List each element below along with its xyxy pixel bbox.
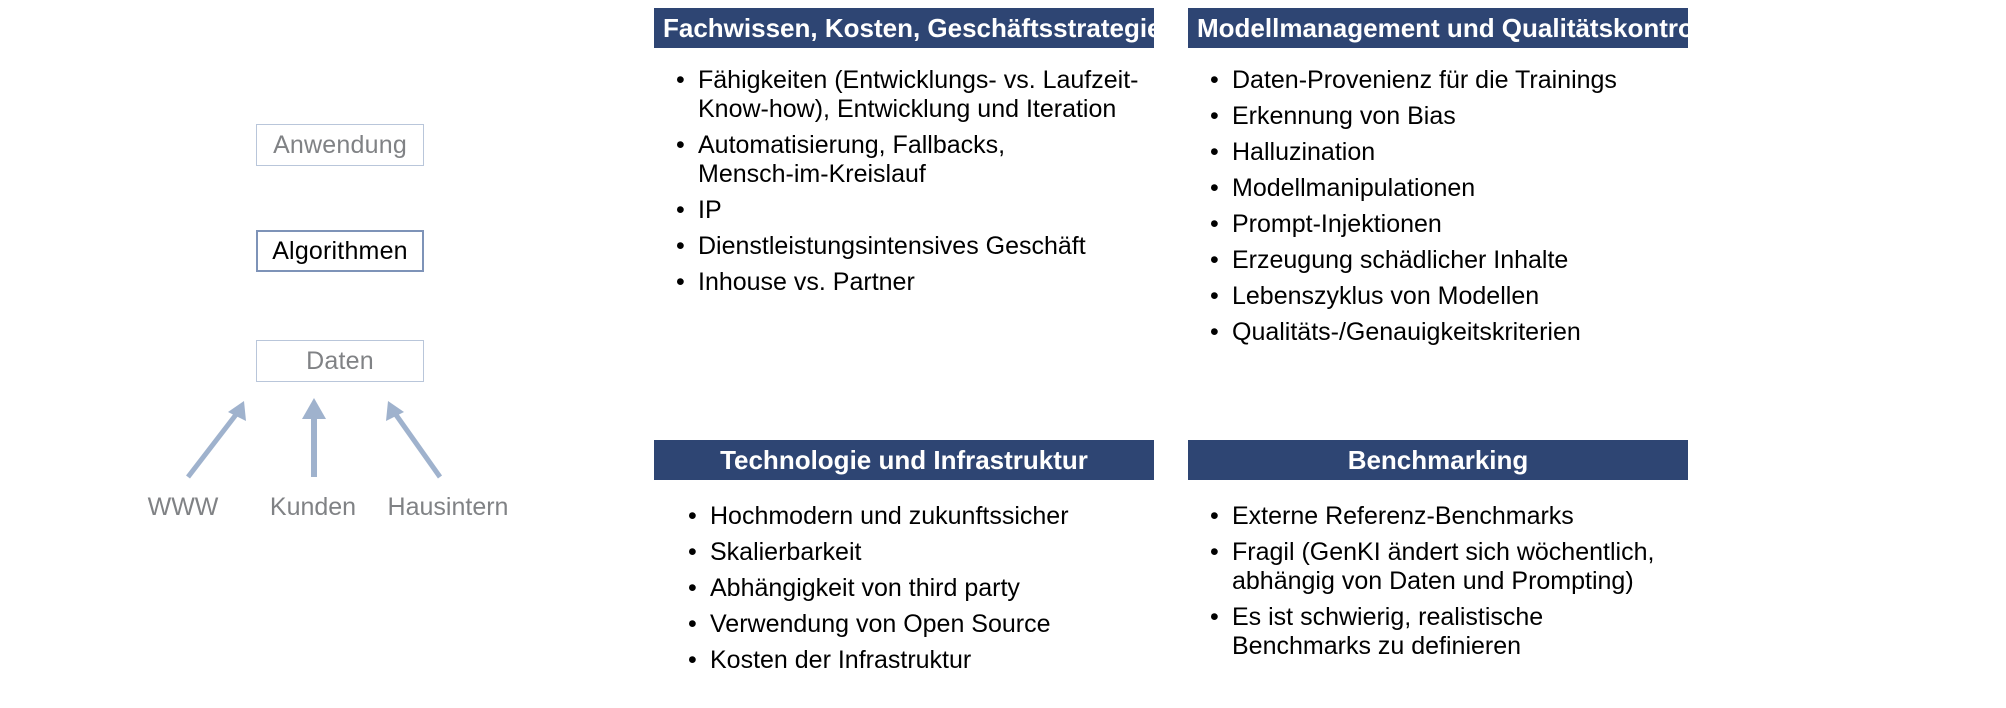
bullet-dot-icon: • [1210, 210, 1219, 239]
list-item-text: Erkennung von Bias [1232, 102, 1688, 131]
list-item: • Verwendung von Open Source [684, 610, 1154, 639]
bullet-dot-icon: • [1210, 603, 1219, 632]
list-item: • Qualitäts-/Genauigkeitskriterien [1206, 318, 1688, 347]
bullet-dot-icon: • [1210, 538, 1219, 567]
panel-grid: Fachwissen, Kosten, Geschäftsstrategie •… [650, 0, 2006, 708]
bullet-dot-icon: • [1210, 174, 1219, 203]
bullet-list-benchmarking: • Externe Referenz-Benchmarks • Fragil (… [1206, 502, 1688, 661]
stack-layer-anwendung[interactable]: Anwendung [256, 124, 424, 166]
bullet-list-technology: • Hochmodern und zukunftssicher • Skalie… [684, 502, 1154, 675]
panel-benchmarking: Benchmarking • Externe Referenz-Benchmar… [1188, 440, 1688, 668]
bullet-dot-icon: • [688, 538, 697, 567]
list-item-text: Halluzination [1232, 138, 1688, 167]
list-item: • Prompt-Injektionen [1206, 210, 1688, 239]
panel-header-expertise: Fachwissen, Kosten, Geschäftsstrategie [654, 8, 1154, 48]
list-item-text: Inhouse vs. Partner [698, 268, 1154, 297]
arrow-www-icon [188, 401, 246, 477]
list-item: • Inhouse vs. Partner [672, 268, 1154, 297]
stack-layer-daten[interactable]: Daten [256, 340, 424, 382]
list-item-text: Daten-Provenienz für die Trainings [1232, 66, 1688, 95]
panel-expertise: Fachwissen, Kosten, Geschäftsstrategie •… [654, 8, 1154, 304]
list-item-text: Modellmanipulationen [1232, 174, 1688, 203]
bullet-dot-icon: • [1210, 138, 1219, 167]
bullet-dot-icon: • [676, 131, 685, 160]
panel-body-benchmarking: • Externe Referenz-Benchmarks • Fragil (… [1188, 502, 1688, 661]
bullet-dot-icon: • [1210, 66, 1219, 95]
list-item: • Externe Referenz-Benchmarks [1206, 502, 1688, 531]
stack-layer-label: Anwendung [273, 131, 407, 160]
source-label-kunden: Kunden [258, 493, 368, 522]
list-item-text: Abhängigkeit von third party [710, 574, 1154, 603]
list-item-text: Lebenszyklus von Modellen [1232, 282, 1688, 311]
panel-technology: Technologie und Infrastruktur • Hochmode… [654, 440, 1154, 682]
list-item: • Es ist schwierig, realistische Benchma… [1206, 603, 1592, 661]
bullet-dot-icon: • [1210, 246, 1219, 275]
list-item-text: Qualitäts-/Genauigkeitskriterien [1232, 318, 1688, 347]
bullet-dot-icon: • [676, 268, 685, 297]
arrow-hausintern-icon [386, 401, 440, 477]
list-item-text: Prompt-Injektionen [1232, 210, 1688, 239]
source-arrows-group [150, 385, 500, 480]
list-item: • Daten-Provenienz für die Trainings [1206, 66, 1688, 95]
list-item: • Kosten der Infrastruktur [684, 646, 1154, 675]
bullet-dot-icon: • [676, 66, 685, 95]
stack-layer-label: Daten [306, 347, 374, 376]
bullet-dot-icon: • [688, 502, 697, 531]
list-item-text: Automatisierung, Fallbacks, Mensch-im-Kr… [698, 131, 1078, 189]
panel-body-modelmanagement: • Daten-Provenienz für die Trainings • E… [1188, 66, 1688, 347]
list-item: • Fragil (GenKI ändert sich wöchentlich,… [1206, 538, 1687, 596]
list-item: • Abhängigkeit von third party [684, 574, 1154, 603]
list-item: • Modellmanipulationen [1206, 174, 1688, 203]
list-item-text: IP [698, 196, 1154, 225]
bullet-dot-icon: • [1210, 102, 1219, 131]
list-item: • Hochmodern und zukunftssicher [684, 502, 1154, 531]
panel-body-expertise: • Fähigkeiten (Entwicklungs- vs. Laufzei… [654, 66, 1154, 297]
list-item: • Erzeugung schädlicher Inhalte [1206, 246, 1688, 275]
list-item-text: Fähigkeiten (Entwicklungs- vs. Laufzeit-… [698, 66, 1163, 124]
stack-diagram: Anwendung Algorithmen Daten WWW Kunden H… [0, 0, 650, 708]
list-item-text: Dienstleistungsintensives Geschäft [698, 232, 1154, 261]
list-item-text: Fragil (GenKI ändert sich wöchentlich, a… [1232, 538, 1687, 596]
bullet-dot-icon: • [1210, 502, 1219, 531]
bullet-dot-icon: • [1210, 318, 1219, 347]
panel-body-technology: • Hochmodern und zukunftssicher • Skalie… [654, 502, 1154, 675]
bullet-dot-icon: • [688, 574, 697, 603]
list-item: • Skalierbarkeit [684, 538, 1154, 567]
list-item: • Automatisierung, Fallbacks, Mensch-im-… [672, 131, 1078, 189]
arrow-kunden-icon [302, 398, 326, 477]
list-item: • Halluzination [1206, 138, 1688, 167]
bullet-dot-icon: • [676, 196, 685, 225]
source-label-hausintern: Hausintern [368, 493, 528, 522]
panel-header-benchmarking: Benchmarking [1188, 440, 1688, 480]
list-item-text: Skalierbarkeit [710, 538, 1154, 567]
bullet-dot-icon: • [688, 646, 697, 675]
bullet-dot-icon: • [688, 610, 697, 639]
list-item-text: Verwendung von Open Source [710, 610, 1154, 639]
panel-header-technology: Technologie und Infrastruktur [654, 440, 1154, 480]
bullet-dot-icon: • [1210, 282, 1219, 311]
list-item-text: Externe Referenz-Benchmarks [1232, 502, 1688, 531]
bullet-list-modelmanagement: • Daten-Provenienz für die Trainings • E… [1206, 66, 1688, 347]
list-item-text: Erzeugung schädlicher Inhalte [1232, 246, 1688, 275]
list-item: • Erkennung von Bias [1206, 102, 1688, 131]
stack-layer-label: Algorithmen [272, 237, 408, 266]
panel-header-modelmanagement: Modellmanagement und Qualitätskontrolle [1188, 8, 1688, 48]
stack-layer-algorithmen[interactable]: Algorithmen [256, 230, 424, 272]
list-item-text: Es ist schwierig, realistische Benchmark… [1232, 603, 1592, 661]
list-item-text: Kosten der Infrastruktur [710, 646, 1154, 675]
source-label-www: WWW [128, 493, 238, 522]
list-item: • Dienstleistungsintensives Geschäft [672, 232, 1154, 261]
list-item: • Fähigkeiten (Entwicklungs- vs. Laufzei… [672, 66, 1163, 124]
bullet-dot-icon: • [676, 232, 685, 261]
panel-modelmanagement: Modellmanagement und Qualitätskontrolle … [1188, 8, 1688, 354]
list-item: • IP [672, 196, 1154, 225]
list-item: • Lebenszyklus von Modellen [1206, 282, 1688, 311]
list-item-text: Hochmodern und zukunftssicher [710, 502, 1154, 531]
bullet-list-expertise: • Fähigkeiten (Entwicklungs- vs. Laufzei… [672, 66, 1154, 297]
